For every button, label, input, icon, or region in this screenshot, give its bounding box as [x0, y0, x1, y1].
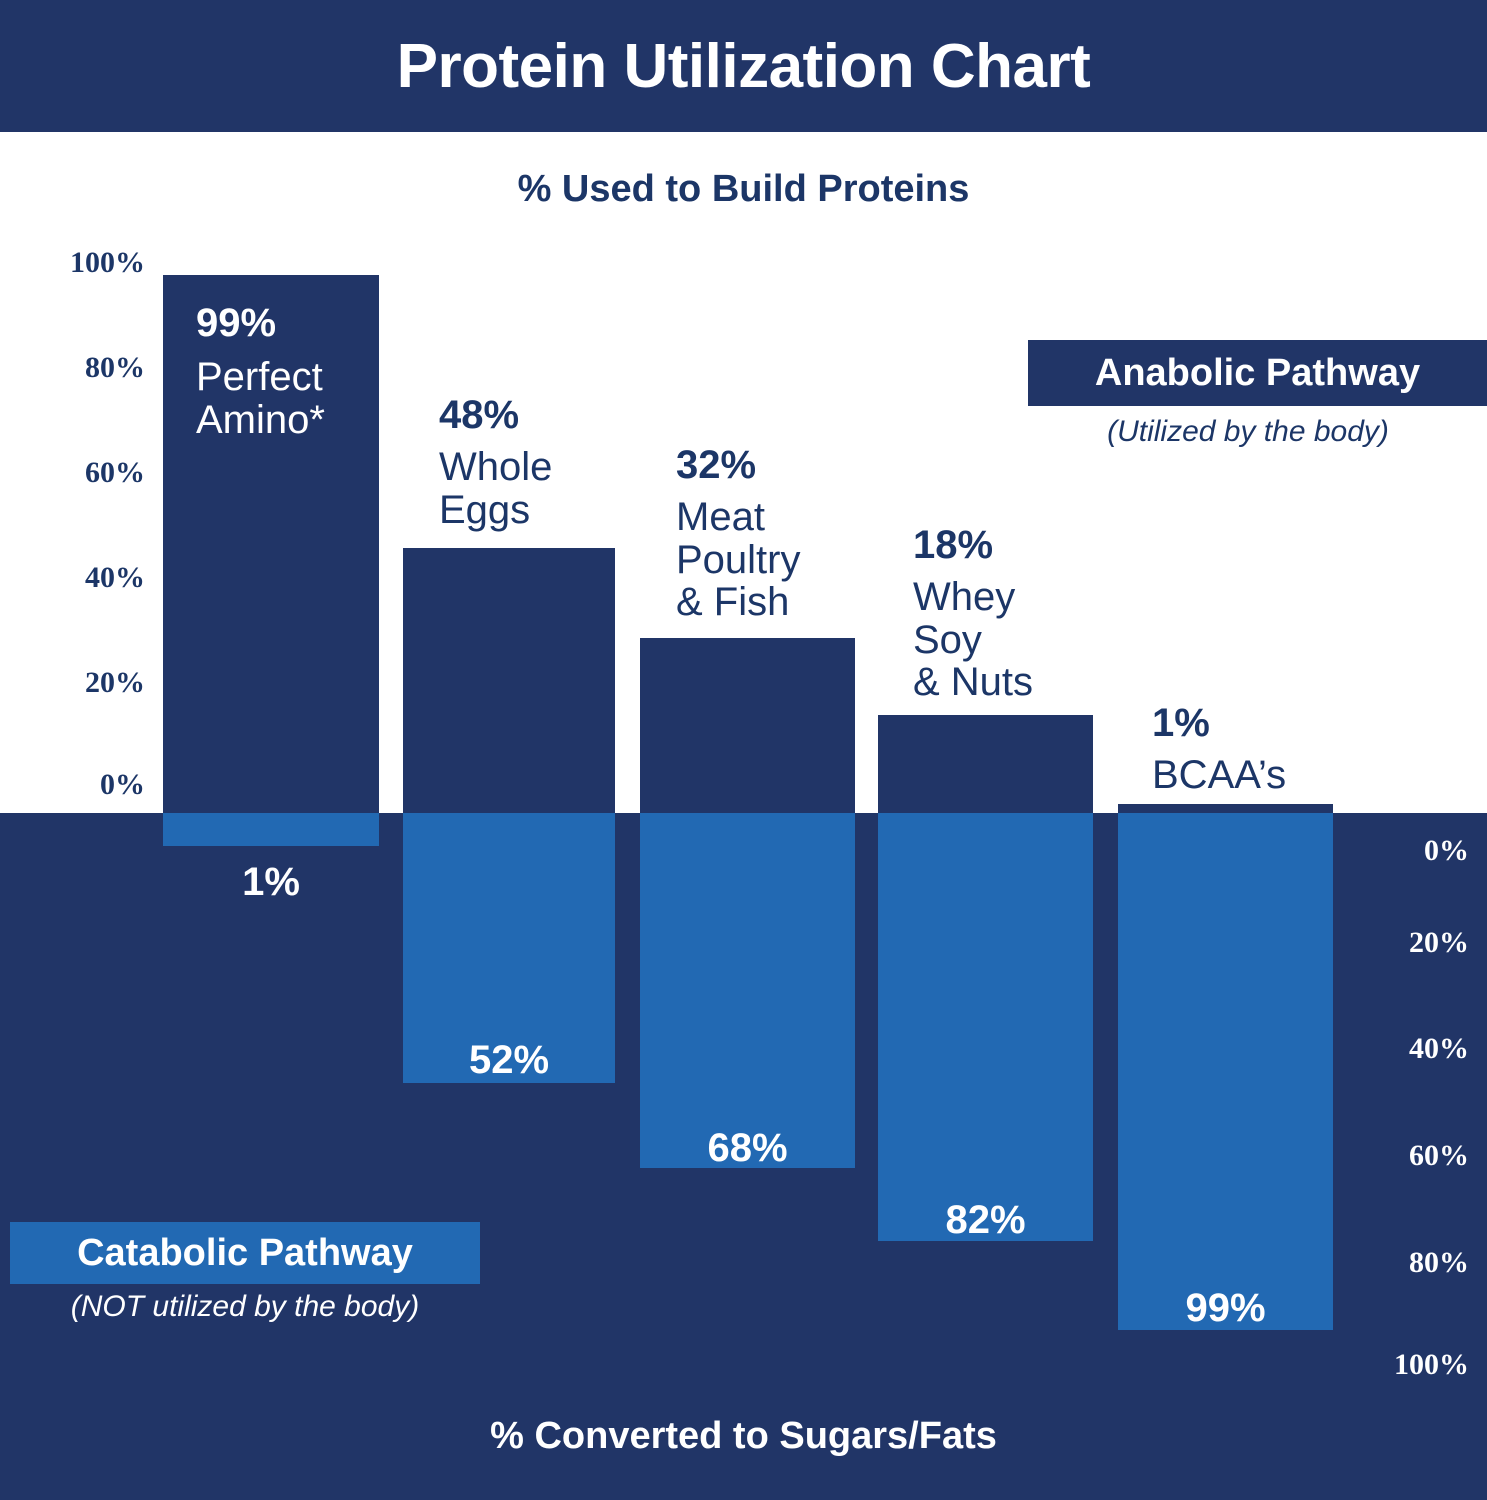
right-axis-tick-80: 80%: [1409, 1246, 1469, 1280]
catabolic-pathway-label: Catabolic Pathway: [77, 1232, 413, 1275]
bar-top-whole-eggs[interactable]: [403, 548, 615, 813]
bar-label-whole-eggs: 48% Whole Eggs: [439, 394, 669, 531]
bar-top-meat-poultry-fish[interactable]: [640, 638, 855, 813]
bar-label-bcaas: 1% BCAA’s: [1152, 702, 1382, 797]
bar-bottom-perfect-amino[interactable]: [163, 813, 379, 846]
catabolic-pathway-badge: Catabolic Pathway: [10, 1222, 480, 1284]
bar-top-value-perfect-amino: 99%: [196, 302, 396, 344]
bar-bottom-value-whole-eggs: 52%: [403, 1038, 615, 1083]
bar-bottom-value-perfect-amino: 1%: [163, 860, 379, 905]
bar-name-meat-poultry-fish: Meat Poultry & Fish: [676, 496, 906, 623]
right-axis-tick-100: 100%: [1394, 1348, 1469, 1382]
bar-top-whey-soy-nuts[interactable]: [878, 715, 1093, 813]
left-axis-tick-60: 60%: [15, 456, 145, 490]
anabolic-panel: % Used to Build Proteins 100% 80% 60% 40…: [0, 132, 1487, 813]
page-title: Protein Utilization Chart: [397, 31, 1091, 102]
anabolic-pathway-badge: Anabolic Pathway: [1028, 340, 1487, 406]
protein-utilization-chart: Protein Utilization Chart % Used to Buil…: [0, 0, 1487, 1500]
bar-name-whole-eggs: Whole Eggs: [439, 446, 669, 531]
left-axis-tick-0: 0%: [15, 768, 145, 802]
bar-bottom-value-meat-poultry-fish: 68%: [640, 1126, 855, 1171]
bar-top-value-meat-poultry-fish: 32%: [676, 444, 906, 486]
left-axis-tick-40: 40%: [15, 561, 145, 595]
bar-top-value-bcaas: 1%: [1152, 702, 1382, 744]
bar-name-whey-soy-nuts: Whey Soy & Nuts: [913, 576, 1143, 703]
bar-bottom-whey-soy-nuts[interactable]: [878, 813, 1093, 1241]
right-axis-tick-0: 0%: [1424, 834, 1469, 868]
right-axis: 0% 20% 40% 60% 80% 100%: [1337, 813, 1487, 1500]
left-axis: 100% 80% 60% 40% 20% 0%: [0, 132, 145, 813]
catabolic-panel: 1% 52% 68% 82% 99% 0% 20% 40% 60% 80% 10…: [0, 813, 1487, 1500]
bar-label-perfect-amino: 99% Perfect Amino*: [196, 302, 396, 441]
bar-name-bcaas: BCAA’s: [1152, 754, 1382, 796]
left-axis-tick-100: 100%: [15, 246, 145, 280]
bar-bottom-bcaas[interactable]: [1118, 813, 1333, 1330]
top-axis-title: % Used to Build Proteins: [0, 168, 1487, 211]
anabolic-pathway-label: Anabolic Pathway: [1095, 352, 1420, 395]
left-axis-tick-20: 20%: [15, 666, 145, 700]
right-axis-tick-20: 20%: [1409, 926, 1469, 960]
left-axis-tick-80: 80%: [15, 351, 145, 385]
bar-label-meat-poultry-fish: 32% Meat Poultry & Fish: [676, 444, 906, 624]
catabolic-pathway-sublabel: (NOT utilized by the body): [10, 1290, 480, 1324]
bar-top-value-whey-soy-nuts: 18%: [913, 524, 1143, 566]
bar-name-perfect-amino: Perfect Amino*: [196, 356, 396, 441]
bar-top-value-whole-eggs: 48%: [439, 394, 669, 436]
right-axis-tick-40: 40%: [1409, 1032, 1469, 1066]
bar-bottom-meat-poultry-fish[interactable]: [640, 813, 855, 1168]
anabolic-pathway-sublabel: (Utilized by the body): [1028, 415, 1468, 449]
bottom-axis-title: % Converted to Sugars/Fats: [0, 1415, 1487, 1458]
chart-title-bar: Protein Utilization Chart: [0, 0, 1487, 132]
bar-top-bcaas[interactable]: [1118, 804, 1333, 813]
bar-bottom-value-bcaas: 99%: [1118, 1286, 1333, 1331]
bar-label-whey-soy-nuts: 18% Whey Soy & Nuts: [913, 524, 1143, 704]
right-axis-tick-60: 60%: [1409, 1139, 1469, 1173]
bar-bottom-value-whey-soy-nuts: 82%: [878, 1198, 1093, 1243]
